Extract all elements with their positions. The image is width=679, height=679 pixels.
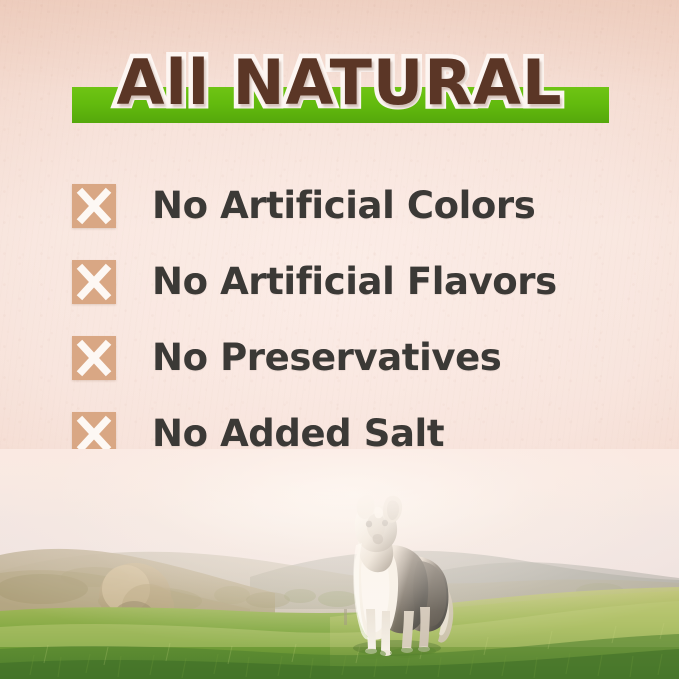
x-mark-icon (72, 260, 116, 304)
list-item-label: No Preservatives (152, 336, 501, 380)
all-natural-poster: All NATURAL No Artificial Colors No Arti… (0, 0, 679, 679)
list-item: No Preservatives (72, 320, 632, 396)
feature-list: No Artificial Colors No Artificial Flavo… (72, 168, 632, 472)
dog-landscape-photo (0, 449, 679, 679)
list-item-label: No Artificial Flavors (152, 260, 557, 304)
x-mark-icon (72, 184, 116, 228)
list-item-label: No Artificial Colors (152, 184, 535, 228)
title-banner: All NATURAL (0, 50, 679, 140)
list-item: No Artificial Flavors (72, 244, 632, 320)
list-item: No Artificial Colors (72, 168, 632, 244)
page-title: All NATURAL (0, 50, 679, 116)
x-mark-icon (72, 336, 116, 380)
